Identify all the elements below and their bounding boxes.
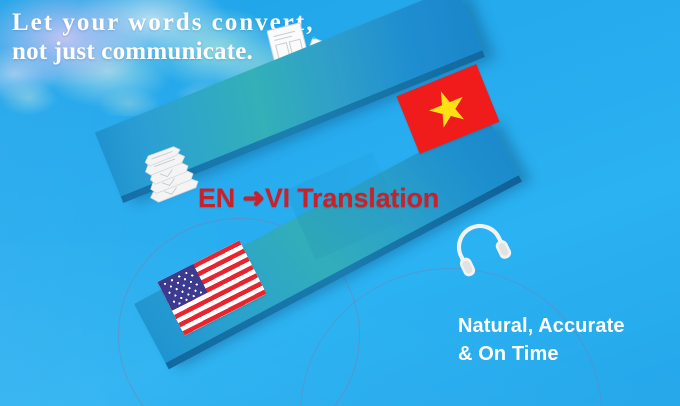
tagline-line-2: & On Time [458,341,678,369]
center-title-text: EN ➜VI Translation [198,183,439,213]
tagline: Natural, Accurate & On Time [458,313,678,368]
vietnam-flag-star [423,84,472,133]
tagline-line-1: Natural, Accurate [458,313,678,341]
center-title: EN ➜VI Translation [198,183,439,214]
banner-canvas: Let your words convert, not just communi… [0,0,680,406]
